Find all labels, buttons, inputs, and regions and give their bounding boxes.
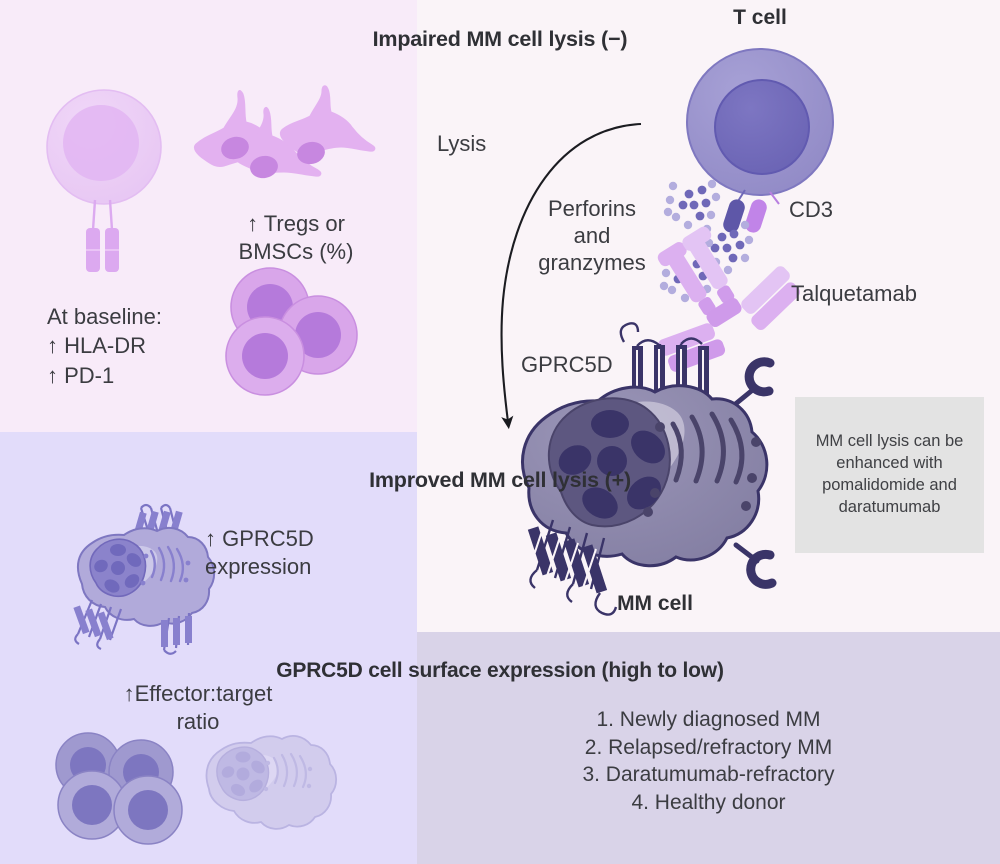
expression-item-3: 3. Daratumumab-refractory <box>417 761 1000 789</box>
label-lysis: Lysis <box>437 131 486 157</box>
tregs-line-1: ↑ Tregs or <box>216 210 376 238</box>
expression-item-4: 4. Healthy donor <box>417 789 1000 817</box>
label-mm-cell: MM cell <box>595 592 715 616</box>
perforins-line-2: and <box>527 223 657 250</box>
baseline-line-1: At baseline: <box>47 302 162 331</box>
effector-target-ratio-label: ↑Effector:target ratio <box>88 680 308 735</box>
expression-ranking-list: 1. Newly diagnosed MM 2. Relapsed/refrac… <box>417 706 1000 816</box>
gprc5d-exp-line-1: ↑ GPRC5D <box>205 525 365 553</box>
gprc5d-expression-label: ↑ GPRC5D expression <box>205 525 365 580</box>
gprc5d-exp-line-2: expression <box>205 553 365 581</box>
ratio-line-2: ratio <box>88 708 308 736</box>
perforins-line-3: granzymes <box>527 250 657 277</box>
callout-enhancement-note: MM cell lysis can be enhanced with pomal… <box>795 397 984 553</box>
baseline-markers-label: At baseline: ↑ HLA-DR ↑ PD-1 <box>47 302 162 390</box>
label-gprc5d: GPRC5D <box>521 352 613 378</box>
figure-canvas: Impaired MM cell lysis (−) Improved MM c… <box>0 0 1000 864</box>
tregs-bmsc-label: ↑ Tregs or BMSCs (%) <box>216 210 376 265</box>
label-perforins-granzymes: Perforins and granzymes <box>527 196 657 276</box>
tregs-line-2: BMSCs (%) <box>216 238 376 266</box>
expression-item-1: 1. Newly diagnosed MM <box>417 706 1000 734</box>
panel-improved-lysis <box>0 432 417 864</box>
baseline-line-2: ↑ HLA-DR <box>47 331 162 360</box>
callout-text: MM cell lysis can be enhanced with pomal… <box>795 431 984 519</box>
label-cd3: CD3 <box>789 197 833 223</box>
expression-item-2: 2. Relapsed/refractory MM <box>417 734 1000 762</box>
panel-title-impaired: Impaired MM cell lysis (−) <box>0 27 1000 52</box>
baseline-line-3: ↑ PD-1 <box>47 361 162 390</box>
label-talquetamab: Talquetamab <box>791 281 917 307</box>
label-t-cell: T cell <box>700 6 820 30</box>
ratio-line-1: ↑Effector:target <box>88 680 308 708</box>
perforins-line-1: Perforins <box>527 196 657 223</box>
